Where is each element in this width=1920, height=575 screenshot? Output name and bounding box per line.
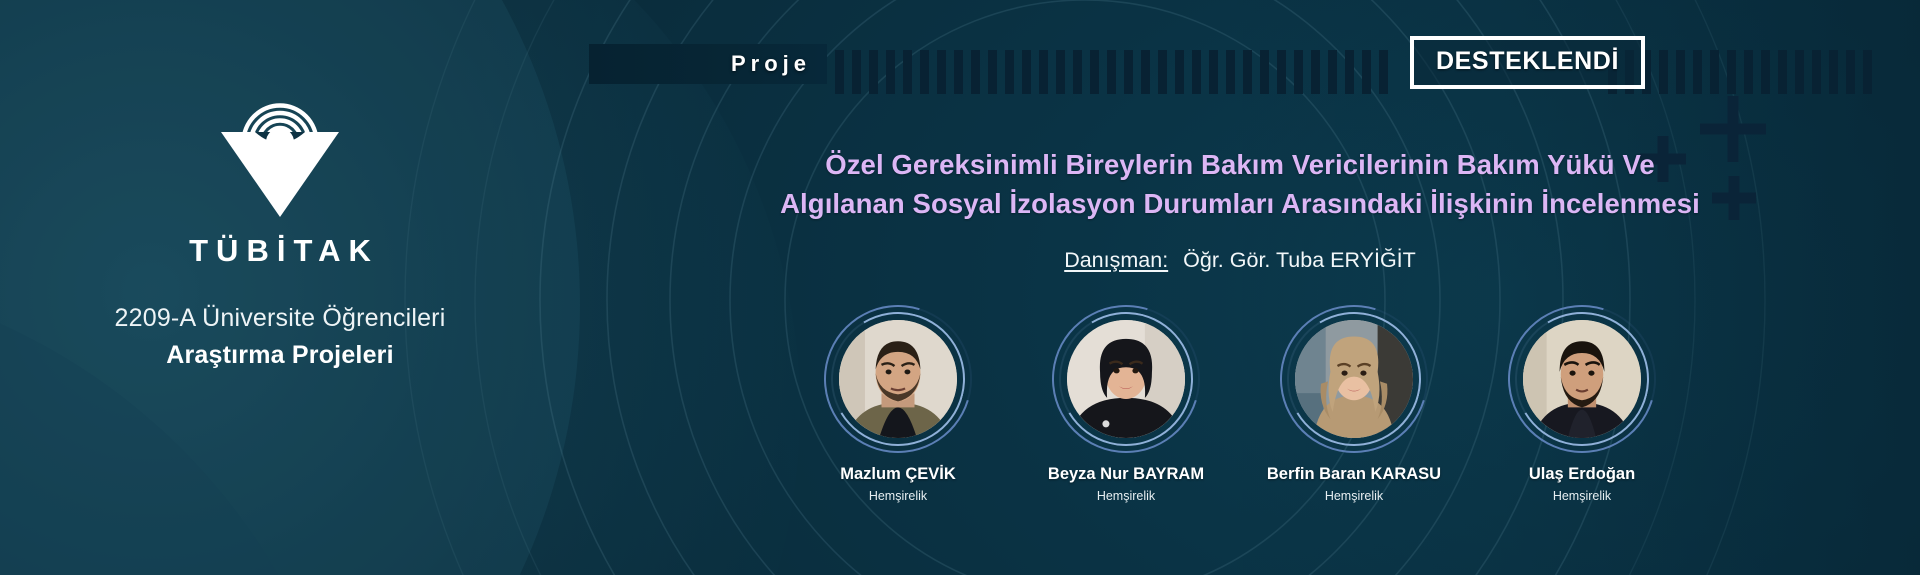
project-title-line-2: Algılanan Sosyal İzolasyon Durumları Ara… [780,188,1700,219]
avatar-female-wavy-blonde-hair-icon [1295,320,1413,438]
team-member: Ulaş Erdoğan Hemşirelik [1489,305,1675,503]
advisor-label: Danışman: [1064,248,1168,272]
team-member-name: Mazlum ÇEVİK [840,465,956,484]
advisor-name: Öğr. Gör. Tuba ERYİĞİT [1183,248,1416,272]
program-line-1: 2209-A Üniversite Öğrencileri [115,304,446,333]
project-title: Özel Gereksinimli Bireylerin Bakım Veric… [560,145,1920,223]
status-badge-label: DESTEKLENDİ [1436,49,1619,74]
team-member-department: Hemşirelik [869,489,927,503]
avatar-male-beard-olive-jacket-icon [839,320,957,438]
avatar-ring [1508,305,1656,453]
team-member-list: Mazlum ÇEVİK Hemşirelik [560,305,1920,503]
team-member: Berfin Baran KARASU Hemşirelik [1261,305,1447,503]
tubitak-triangle-logo-icon [214,96,346,221]
avatar-ring [1052,305,1200,453]
team-member-department: Hemşirelik [1325,489,1383,503]
avatar-male-beard-dark-shirt-icon [1523,320,1641,438]
avatar-female-black-hijab-icon [1067,320,1185,438]
advisor-row: Danışman: Öğr. Gör. Tuba ERYİĞİT [560,248,1920,273]
team-member: Mazlum ÇEVİK Hemşirelik [805,305,991,503]
avatar [839,320,957,438]
tubitak-wordmark: TÜBİTAK [181,233,379,269]
avatar-ring [1280,305,1428,453]
avatar [1523,320,1641,438]
team-member: Beyza Nur BAYRAM Hemşirelik [1033,305,1219,503]
project-support-banner: Proje DESTEKLENDİ TÜBİTAK 2209-A Ü [0,0,1920,575]
team-member-name: Berfin Baran KARASU [1267,465,1441,484]
avatar-ring [824,305,972,453]
program-line-2: Araştırma Projeleri [166,341,394,370]
avatar [1295,320,1413,438]
team-member-name: Beyza Nur BAYRAM [1048,465,1204,484]
status-badge: DESTEKLENDİ [1410,36,1645,89]
team-member-name: Ulaş Erdoğan [1529,465,1635,484]
sponsor-panel: TÜBİTAK 2209-A Üniversite Öğrencileri Ar… [0,0,560,575]
project-content-panel: Özel Gereksinimli Bireylerin Bakım Veric… [560,0,1920,575]
avatar [1067,320,1185,438]
team-member-department: Hemşirelik [1097,489,1155,503]
team-member-department: Hemşirelik [1553,489,1611,503]
project-title-line-1: Özel Gereksinimli Bireylerin Bakım Veric… [825,149,1655,180]
